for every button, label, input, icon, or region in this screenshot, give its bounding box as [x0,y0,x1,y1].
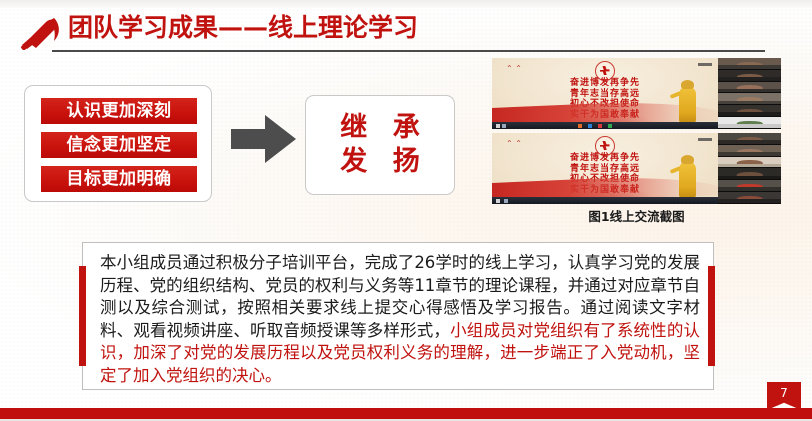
participant-tile [718,93,781,105]
outcome-chip-1: 认识更加深刻 [41,98,197,124]
shared-slide-area: ⌃ ⌃ 奋进博发再争先 青年志当存高远 初心不改担使命 实干为国敢奉献 [492,133,718,204]
participant-tile [718,105,781,117]
slide-canvas: 团队学习成果——线上理论学习 认识更加深刻 信念更加坚定 目标更加明确 继 承 … [0,0,812,421]
promote-label: 发 扬 [332,145,427,179]
taskbar-item [502,124,506,128]
taskbar-item [496,124,500,128]
screenshot-group: ⌃ ⌃ 奋进博发再争先 青年志当存高远 初心不改担使命 实干为国敢奉献 [492,58,781,204]
right-arrow-icon [231,113,296,165]
slogan-line-1: 奋进博发再争先 [570,78,640,89]
participant-tile [718,168,781,180]
taskbar-item [598,124,602,128]
inherit-promote-panel: 继 承 发 扬 [305,95,455,195]
participant-tile [718,58,781,70]
slogan-line-2: 青年志当存高远 [570,89,640,100]
participant-tile [718,180,781,192]
birds-decoration-icon: ⌃ ⌃ [506,65,532,77]
presenter-figure [679,162,696,198]
online-meeting-screenshot-1: ⌃ ⌃ 奋进博发再争先 青年志当存高远 初心不改担使命 实干为国敢奉献 [492,58,781,129]
shared-slide-area: ⌃ ⌃ 奋进博发再争先 青年志当存高远 初心不改担使命 实干为国敢奉献 [492,58,718,129]
participant-tile [718,82,781,94]
slogan-line-1: 奋进博发再争先 [570,153,640,164]
birds-decoration-icon: ⌃ ⌃ [506,140,532,152]
taskbar-item [608,124,612,128]
outcome-chip-3: 目标更加明确 [41,166,197,192]
window-control-bar [698,63,712,66]
slide-header: 团队学习成果——线上理论学习 [0,8,812,50]
presenter-figure [679,87,696,123]
online-meeting-screenshot-2: ⌃ ⌃ 奋进博发再争先 青年志当存高远 初心不改担使命 实干为国敢奉献 [492,133,781,204]
page-number-badge: 7 [767,382,801,410]
inherit-label: 继 承 [332,111,427,145]
taskbar-item [578,124,582,128]
textbox-accent-left [79,266,86,366]
taskbar-item [588,124,592,128]
slogan-line-2: 青年志当存高远 [570,164,640,175]
top-strip [0,0,812,8]
party-emblem-hammer-sickle-icon [16,14,64,50]
participant-tile [718,117,781,129]
outcome-chip-2: 信念更加坚定 [41,132,197,158]
participant-tile [718,145,781,157]
textbox-accent-right [708,266,715,366]
participant-tile-column [718,58,781,129]
title-underline [52,50,765,52]
participant-tile [718,133,781,145]
bottom-red-bar [0,408,812,419]
window-control-bar [698,138,712,141]
figure-caption: 图1线上交流截图 [492,206,781,225]
page-title: 团队学习成果——线上理论学习 [68,12,418,44]
taskbar [492,122,718,129]
taskbar-item [496,199,500,203]
participant-tile [718,192,781,204]
outcomes-panel: 认识更加深刻 信念更加坚定 目标更加明确 [24,85,212,202]
taskbar-item [504,199,508,203]
taskbar [492,197,718,204]
participant-tile [718,70,781,82]
page-number: 7 [780,386,788,400]
summary-text: 本小组成员通过积极分子培训平台，完成了26学时的线上学习，认真学习党的发展历程、… [100,252,700,387]
participant-tile [718,157,781,169]
participant-tile-column [718,133,781,204]
